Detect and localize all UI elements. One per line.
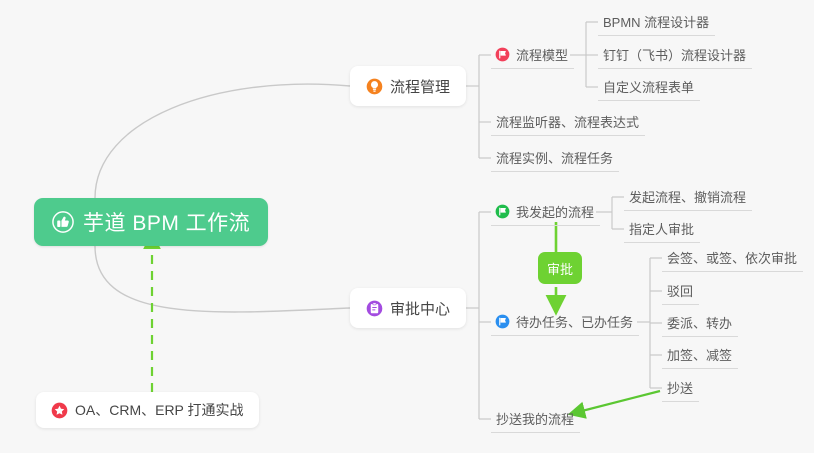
- node-start-cancel-process-label: 发起流程、撤销流程: [629, 187, 746, 206]
- node-process-management-label: 流程管理: [390, 76, 450, 97]
- node-dingtalk-feishu-designer-label: 钉钉（飞书）流程设计器: [603, 45, 746, 64]
- edge-root-to-approval-center: [95, 246, 350, 312]
- node-cc-to-me-process[interactable]: 抄送我的流程: [491, 405, 580, 433]
- node-process-model-label: 流程模型: [516, 45, 568, 64]
- node-my-initiated-process[interactable]: 我发起的流程: [491, 198, 600, 226]
- node-process-model[interactable]: 流程模型: [491, 41, 574, 69]
- node-carbon-copy-label: 抄送: [667, 378, 693, 397]
- node-delegate-transfer[interactable]: 委派、转办: [662, 309, 738, 337]
- flag-icon-green: [495, 204, 510, 219]
- node-custom-process-form[interactable]: 自定义流程表单: [598, 73, 700, 101]
- node-assignee-approval[interactable]: 指定人审批: [624, 215, 700, 243]
- node-todo-done-task[interactable]: 待办任务、已办任务: [491, 308, 639, 336]
- node-reject[interactable]: 驳回: [662, 277, 699, 305]
- root-node[interactable]: 芋道 BPM 工作流: [34, 198, 268, 246]
- node-bpmn-designer-label: BPMN 流程设计器: [603, 12, 709, 31]
- node-reject-label: 驳回: [667, 281, 693, 300]
- lightbulb-icon: [366, 78, 383, 95]
- node-bpmn-designer[interactable]: BPMN 流程设计器: [598, 8, 715, 36]
- mindmap-canvas: 芋道 BPM 工作流 流程管理 流程模型 BPMN 流程设计器 钉钉（飞书）流程…: [0, 0, 814, 453]
- node-cc-to-me-process-label: 抄送我的流程: [496, 409, 574, 428]
- node-approval-center-label: 审批中心: [390, 298, 450, 319]
- integration-note[interactable]: OA、CRM、ERP 打通实战: [36, 392, 259, 428]
- edge-root-to-process-management: [95, 84, 350, 198]
- node-dingtalk-feishu-designer[interactable]: 钉钉（飞书）流程设计器: [598, 41, 752, 69]
- thumbs-up-icon: [52, 211, 74, 233]
- approval-chip[interactable]: 审批: [538, 252, 582, 284]
- node-process-listener-expression[interactable]: 流程监听器、流程表达式: [491, 108, 645, 136]
- node-multi-sign-approval[interactable]: 会签、或签、依次审批: [662, 244, 803, 272]
- node-process-listener-expression-label: 流程监听器、流程表达式: [496, 112, 639, 131]
- node-add-remove-sign-label: 加签、减签: [667, 345, 732, 364]
- node-add-remove-sign[interactable]: 加签、减签: [662, 341, 738, 369]
- root-label: 芋道 BPM 工作流: [83, 207, 250, 237]
- node-multi-sign-approval-label: 会签、或签、依次审批: [667, 248, 797, 267]
- node-my-initiated-process-label: 我发起的流程: [516, 202, 594, 221]
- node-process-management[interactable]: 流程管理: [350, 66, 466, 106]
- arrow-carbon-copy-to-cc-process: [574, 391, 660, 413]
- node-todo-done-task-label: 待办任务、已办任务: [516, 312, 633, 331]
- node-process-instance-task-label: 流程实例、流程任务: [496, 148, 613, 167]
- node-custom-process-form-label: 自定义流程表单: [603, 77, 694, 96]
- star-icon: [51, 402, 68, 419]
- node-approval-center[interactable]: 审批中心: [350, 288, 466, 328]
- node-start-cancel-process[interactable]: 发起流程、撤销流程: [624, 183, 752, 211]
- flag-icon-blue: [495, 314, 510, 329]
- node-delegate-transfer-label: 委派、转办: [667, 313, 732, 332]
- node-process-instance-task[interactable]: 流程实例、流程任务: [491, 144, 619, 172]
- approval-chip-label: 审批: [547, 259, 573, 278]
- flag-icon-red: [495, 47, 510, 62]
- integration-note-label: OA、CRM、ERP 打通实战: [75, 400, 244, 420]
- node-carbon-copy[interactable]: 抄送: [662, 374, 699, 402]
- node-assignee-approval-label: 指定人审批: [629, 219, 694, 238]
- clipboard-icon: [366, 300, 383, 317]
